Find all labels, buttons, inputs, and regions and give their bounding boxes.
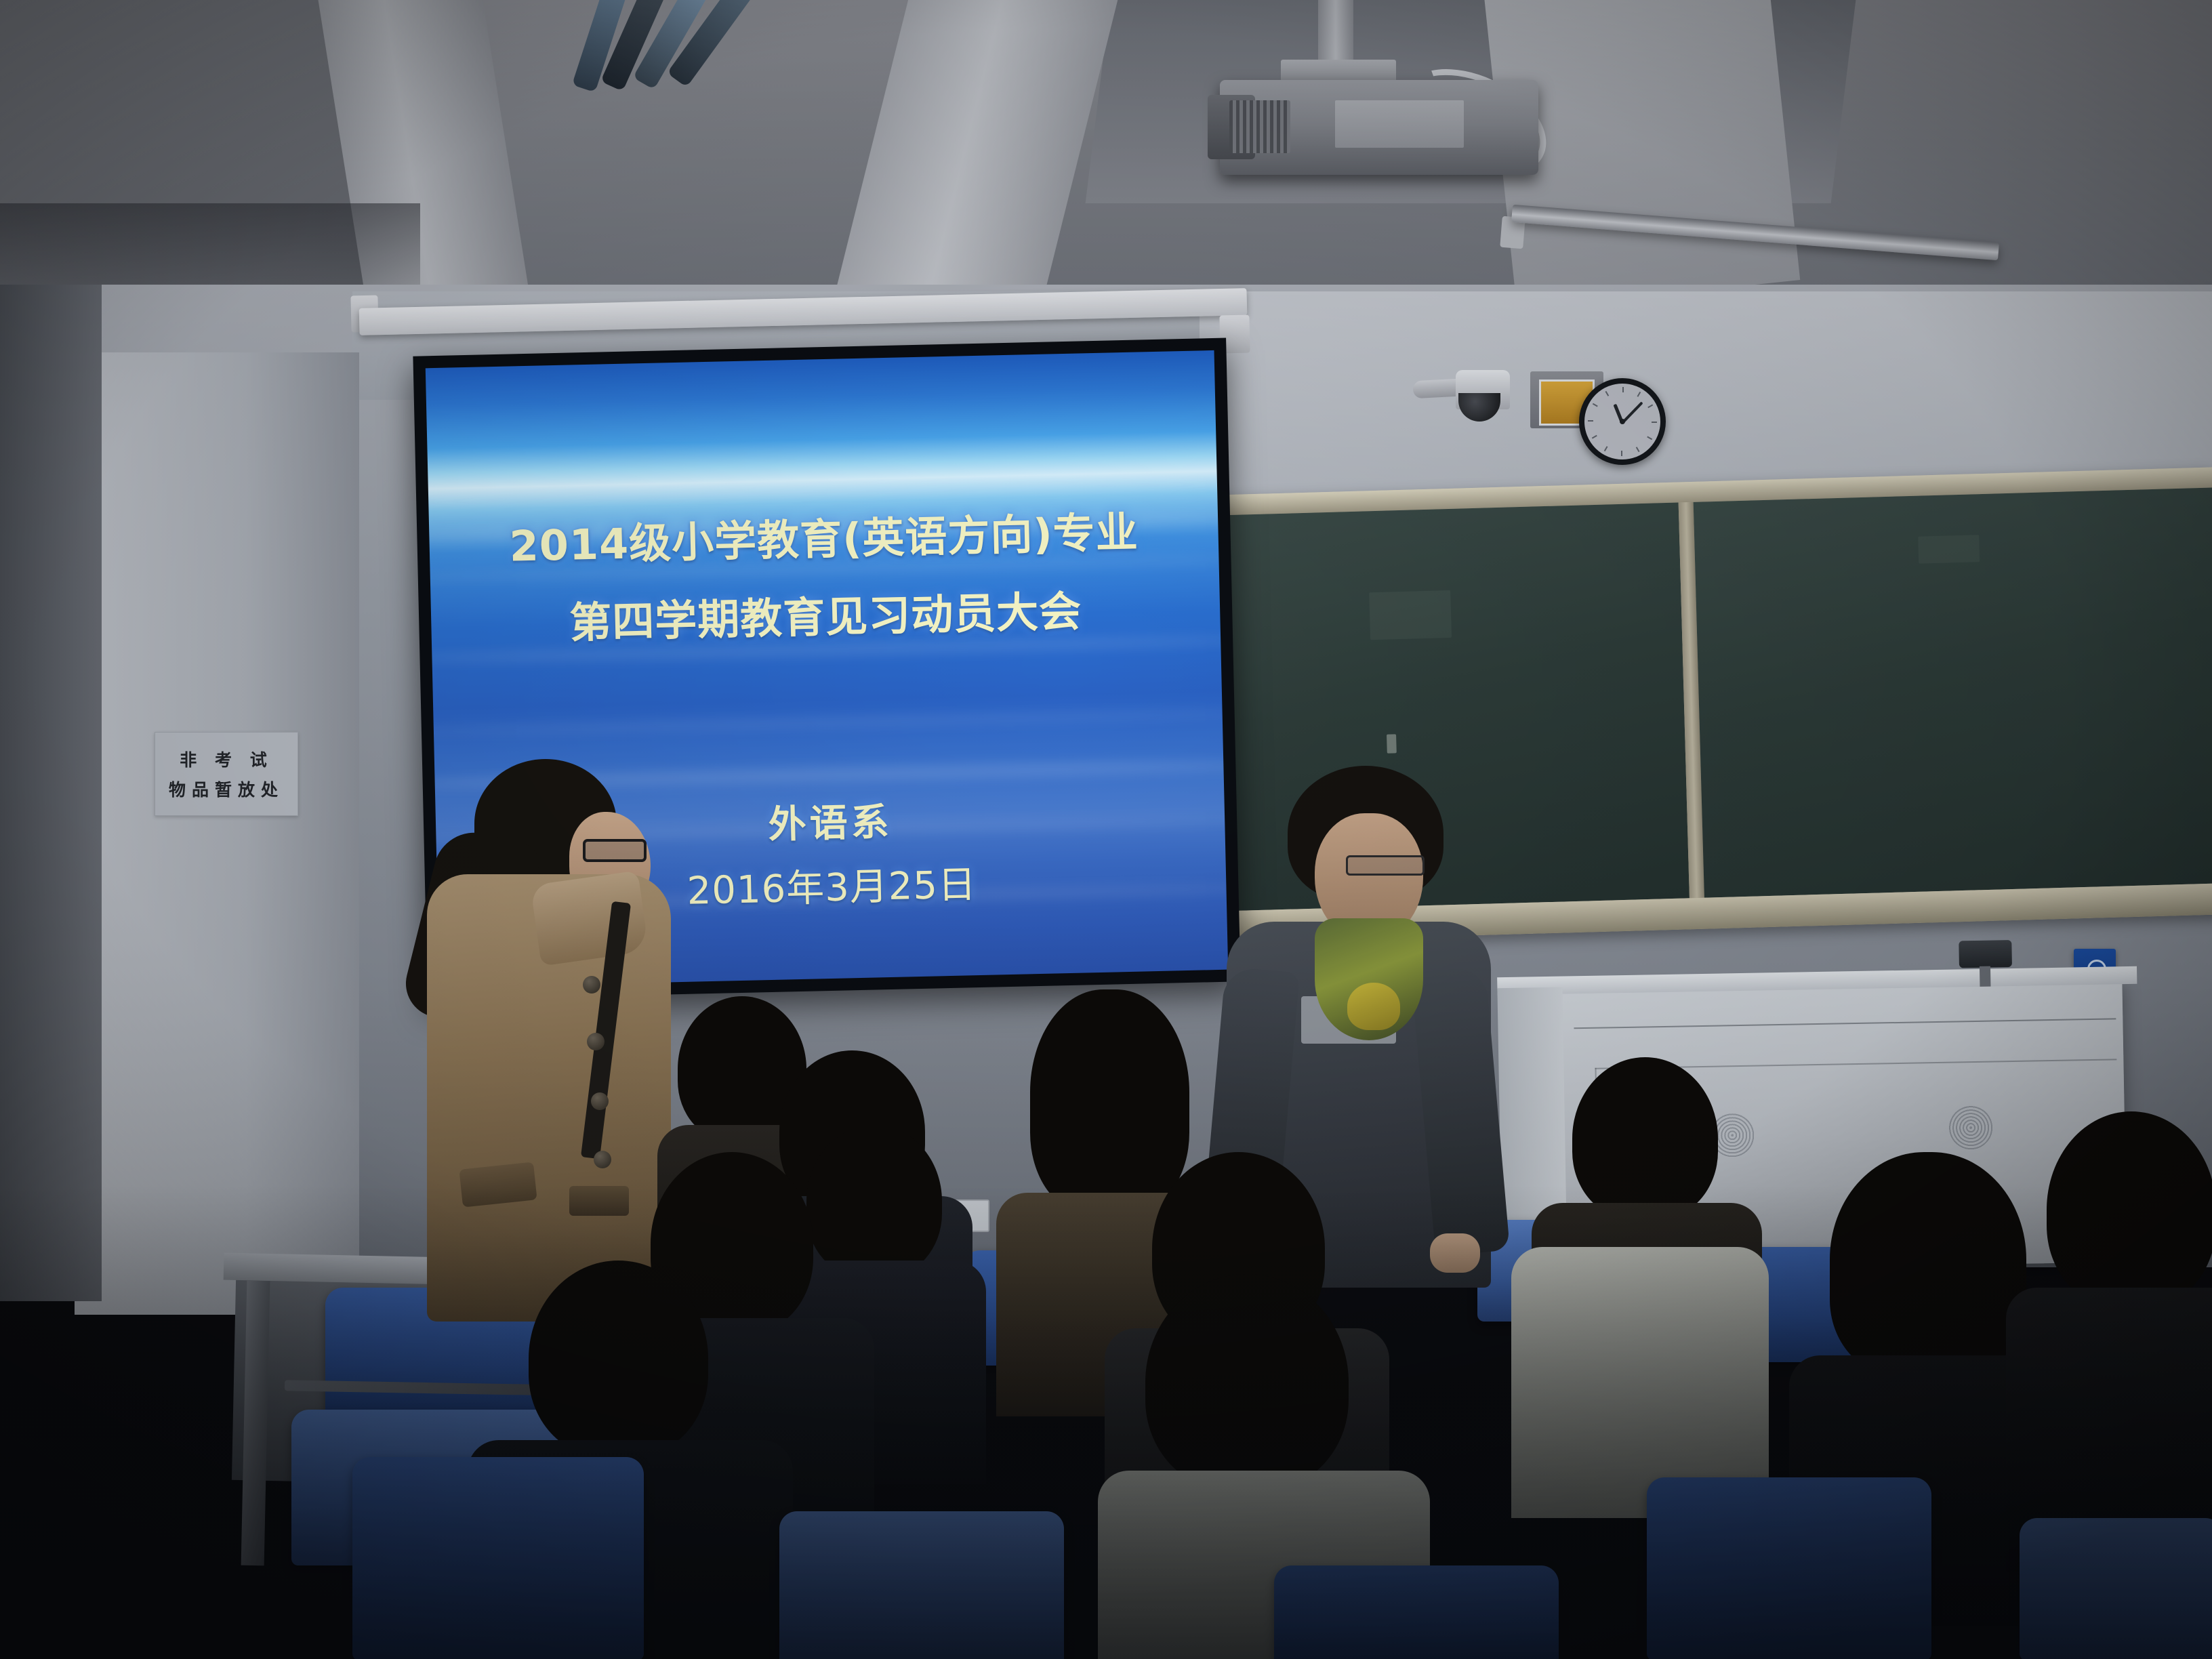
coat-belt-tab xyxy=(569,1186,629,1216)
coat-collar xyxy=(530,870,649,966)
glasses-icon xyxy=(1346,855,1425,876)
projector-vent xyxy=(1229,100,1290,153)
ceiling-projector xyxy=(1220,80,1538,175)
coat-button xyxy=(587,1033,605,1050)
wall-left-shadowed xyxy=(0,285,102,1301)
presenter-left xyxy=(380,759,671,1315)
cabinet-knob-stem xyxy=(1980,966,1991,987)
hand xyxy=(1430,1233,1480,1273)
coat-button xyxy=(583,976,600,994)
lecture-seat[interactable] xyxy=(1647,1477,1931,1659)
lecture-seat[interactable] xyxy=(2020,1518,2212,1659)
ceiling xyxy=(0,0,2212,319)
lecture-seat[interactable] xyxy=(1274,1565,1559,1659)
coat-button xyxy=(591,1092,609,1110)
coat-button xyxy=(594,1151,611,1168)
projector-label-plate xyxy=(1335,100,1464,148)
ceiling-fan-icon xyxy=(542,0,800,88)
wall-sign-storage-notice: 非 考 试 物品暂放处 xyxy=(155,732,298,816)
coat-pocket-flap xyxy=(459,1162,537,1207)
wall-left-column xyxy=(75,352,359,1315)
wall-sign-line-1: 非 考 试 xyxy=(180,747,272,771)
blackboard-panel-right xyxy=(1694,487,2212,897)
wall-clock xyxy=(1579,378,1666,465)
glasses-icon xyxy=(583,839,647,862)
classroom-scene: 非 考 试 物品暂放处 xyxy=(0,0,2212,1659)
cabinet-knob[interactable] xyxy=(1959,940,2012,968)
student xyxy=(1511,1139,1715,1518)
scarf-knot xyxy=(1347,983,1400,1030)
wall-sign-line-2: 物品暂放处 xyxy=(169,777,284,801)
projector-mount-pole xyxy=(1318,0,1353,64)
lecture-seat[interactable] xyxy=(352,1457,644,1659)
cabinet-door-seam xyxy=(1574,1018,2116,1029)
clock-center-pin xyxy=(1620,419,1625,424)
lecture-seat[interactable] xyxy=(779,1511,1064,1659)
student xyxy=(2047,1111,2212,1532)
